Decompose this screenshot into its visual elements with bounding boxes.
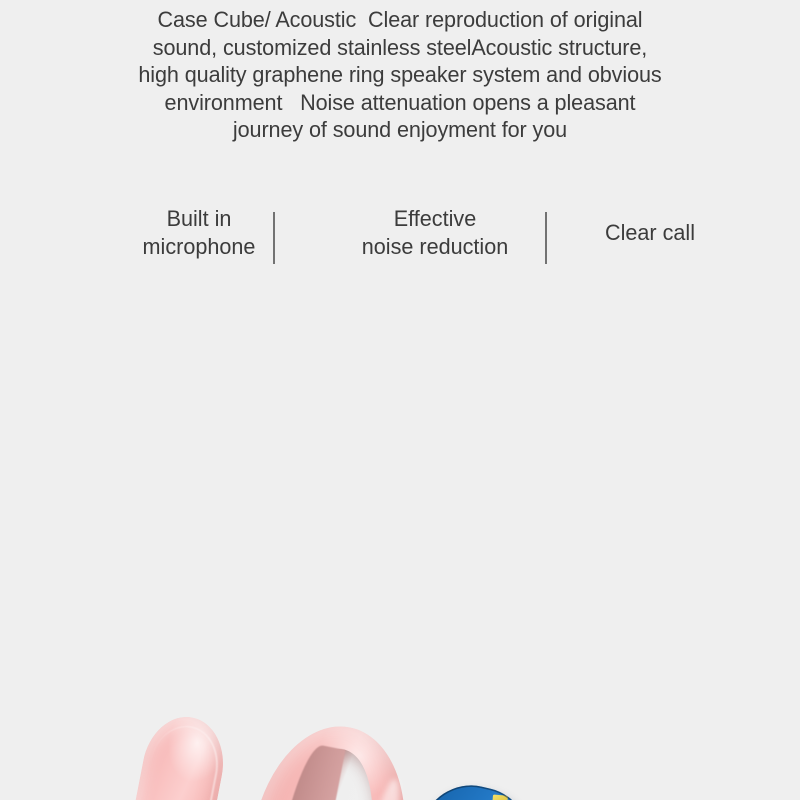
headline-line-2: sound, customized stainless steelAcousti…	[64, 34, 736, 62]
headline-paragraph: Case Cube/ Acoustic Clear reproduction o…	[64, 6, 736, 144]
feature-2-line-2: noise reduction	[325, 233, 546, 261]
feature-strip: Built in microphone Effective noise redu…	[70, 205, 730, 285]
headline-line-1: Case Cube/ Acoustic Clear reproduction o…	[64, 6, 736, 34]
acoustic-ring-part	[227, 713, 424, 800]
pcb-capacitor-1	[492, 795, 508, 800]
feature-effective-noise-reduction: Effective noise reduction	[325, 205, 546, 261]
feature-1-line-2: microphone	[117, 233, 280, 261]
feature-1-line-1: Built in	[117, 205, 280, 233]
feature-3-line-1: Clear call	[573, 219, 727, 247]
exploded-product-illustration	[0, 330, 800, 800]
feature-clear-call: Clear call	[573, 219, 727, 247]
pill-cover-part	[120, 710, 231, 800]
feature-divider-2	[545, 212, 547, 264]
headline-line-5: journey of sound enjoyment for you	[64, 116, 736, 144]
feature-divider-1	[273, 212, 275, 264]
product-feature-page: Case Cube/ Acoustic Clear reproduction o…	[0, 0, 800, 800]
headline-line-3: high quality graphene ring speaker syste…	[64, 61, 736, 89]
feature-built-in-microphone: Built in microphone	[117, 205, 280, 261]
feature-2-line-1: Effective	[325, 205, 546, 233]
shell-outer-surface	[524, 794, 732, 800]
earbud-shell-part	[524, 794, 732, 800]
headline-line-4: environment Noise attenuation opens a pl…	[64, 89, 736, 117]
